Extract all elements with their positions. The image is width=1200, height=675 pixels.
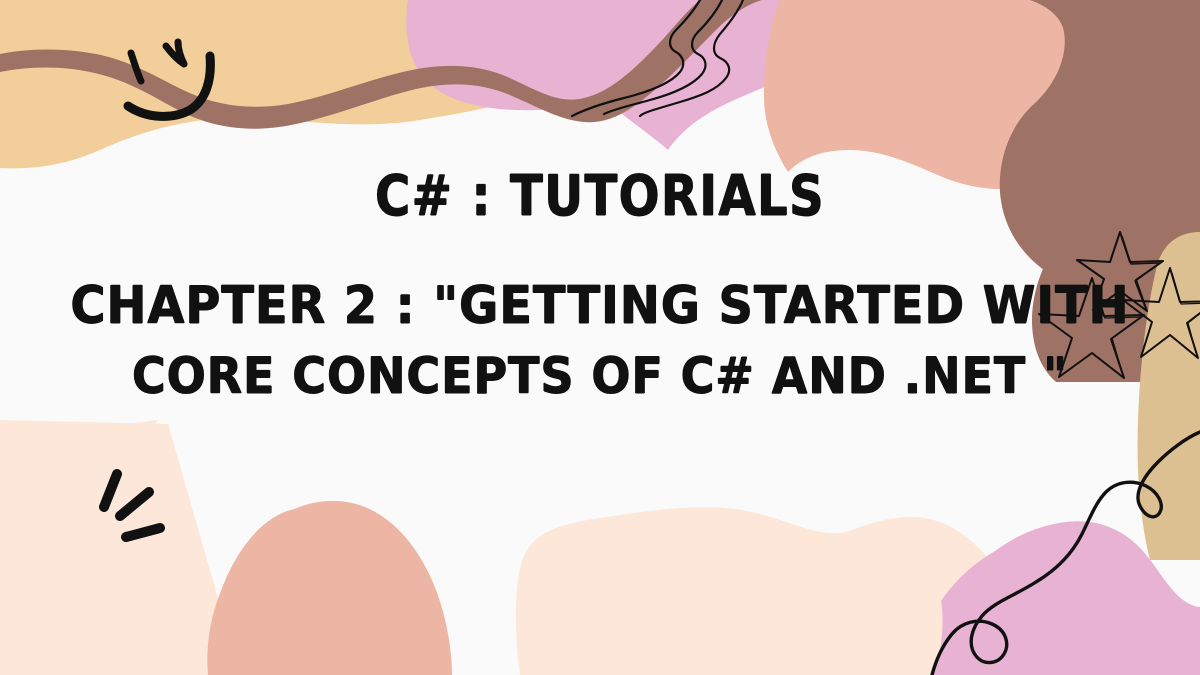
decorative-background bbox=[0, 0, 1200, 675]
slide-canvas: C# : TUTORIALS CHAPTER 2 : "GETTING STAR… bbox=[0, 0, 1200, 675]
